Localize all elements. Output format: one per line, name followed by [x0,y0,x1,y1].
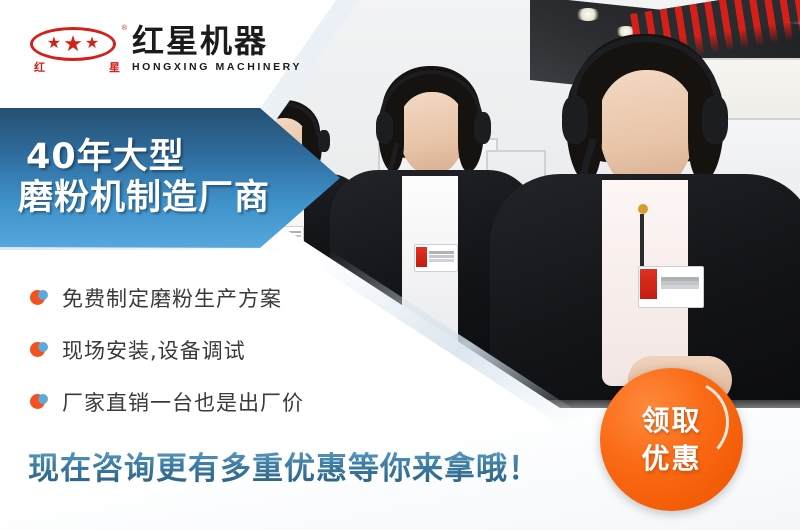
logo-company-cn: 红星机器 [132,25,302,59]
logo-company-en: HONGXING MACHINERY [132,61,302,73]
bullet-dot-icon [30,393,48,411]
star-icon: ★ [63,33,83,55]
id-badge [414,244,458,272]
logo-subtext-right: 星 [109,59,120,75]
cta-label-line-2: 优惠 [641,443,701,474]
headset-earcup [702,96,728,144]
logo-subtext: 红 星 [34,59,120,75]
headset-earcup [376,112,393,144]
promo-banner: ★ ★ ★ ® 红 星 红星机器 HONGXING MACHINERY 40年大… [0,0,800,530]
list-item-label: 免费制定磨粉生产方案 [62,283,282,313]
headset-earcup [474,112,491,144]
headset-icon [570,36,720,102]
star-icon: ★ [85,36,99,52]
logo-wordmark: 红星机器 HONGXING MACHINERY [132,25,302,73]
feature-list: 免费制定磨粉生产方案 现场安装,设备调试 厂家直销一台也是出厂价 [30,272,360,428]
bullet-dot-icon [30,341,48,359]
logo-subtext-left: 红 [34,59,45,75]
ceiling-light-icon [575,8,601,21]
brand-logo[interactable]: ★ ★ ★ ® 红 星 红星机器 HONGXING MACHINERY [30,25,302,73]
bullet-dot-blue [38,342,48,352]
list-item: 免费制定磨粉生产方案 [30,272,360,324]
bottom-headline: 现在咨询更有多重优惠等你来拿哦！ [28,443,540,488]
id-badge [638,266,704,308]
registered-mark-icon: ® [122,25,127,32]
headset-icon [380,70,482,118]
claim-offer-button[interactable]: 领取 优惠 [600,368,743,511]
bullet-dot-icon [30,289,48,307]
bullet-dot-blue [38,290,48,300]
bullet-dot-blue [38,394,48,404]
headset-earcup [562,96,588,144]
headline-line-1: 40年大型 [18,137,340,178]
list-item: 厂家直销一台也是出厂价 [30,376,360,428]
headline-line-2: 磨粉机制造厂商 [18,178,340,219]
agent-front [490,34,800,408]
list-item-label: 现场安装,设备调试 [62,335,246,365]
hongxing-star-emblem-icon: ★ ★ ★ ® 红 星 [30,25,122,73]
necklace [638,204,648,214]
cta-label-line-1: 领取 [641,405,701,436]
star-icon: ★ [47,36,61,52]
list-item-label: 厂家直销一台也是出厂价 [62,387,304,417]
list-item: 现场安装,设备调试 [30,324,360,376]
logo-stars: ★ ★ ★ [30,32,116,56]
headset-earcup [318,130,330,152]
banner-underline [0,247,300,250]
